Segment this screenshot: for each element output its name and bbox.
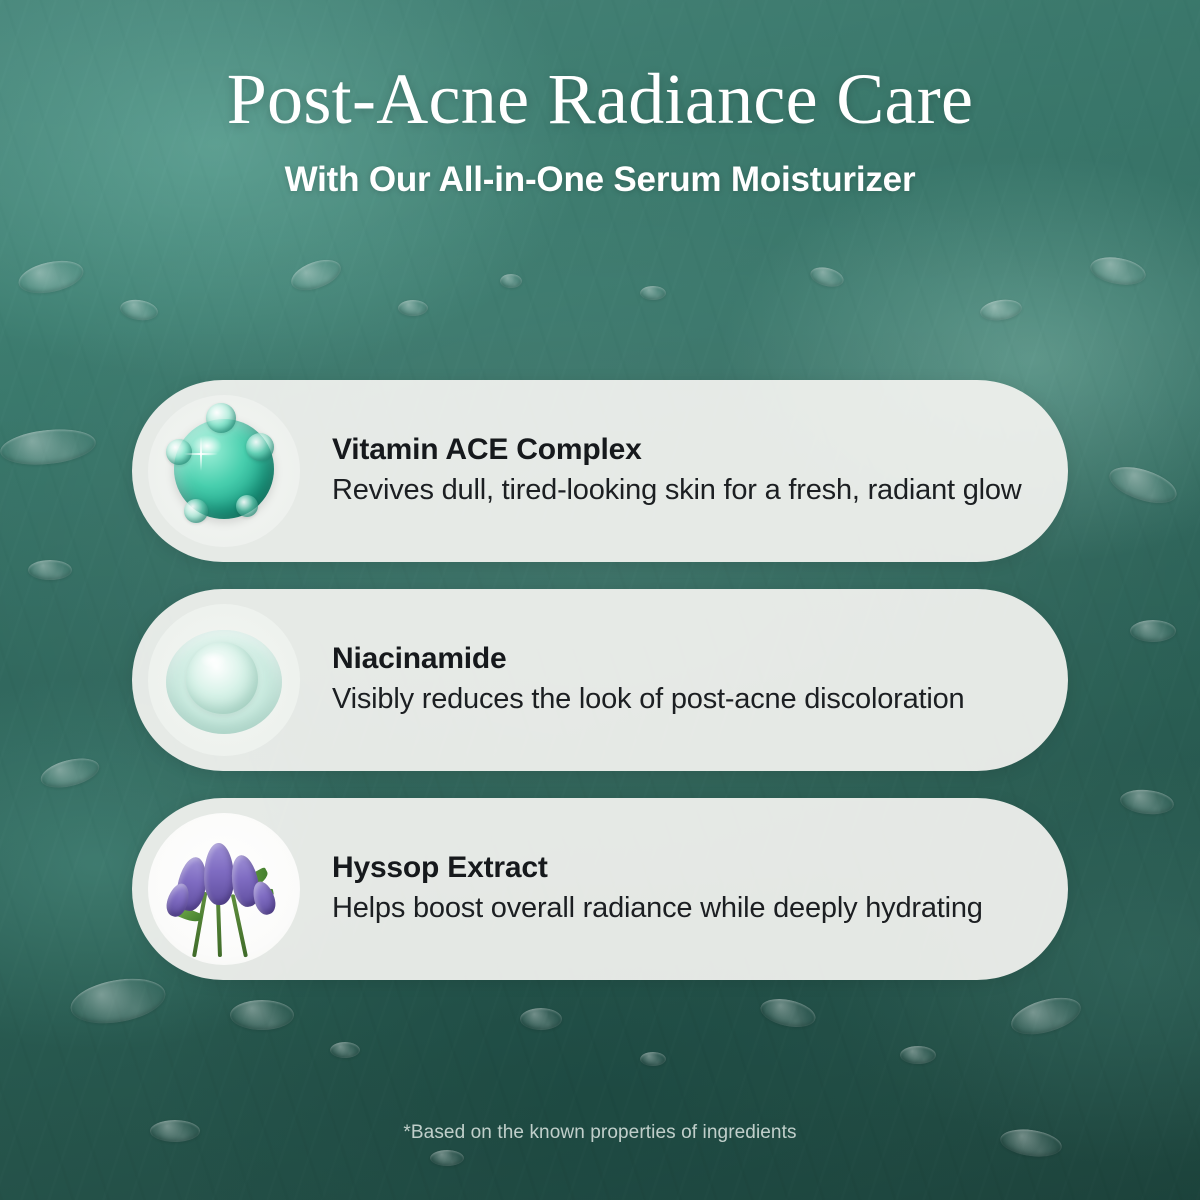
feature-text: Niacinamide Visibly reduces the look of … — [300, 642, 998, 719]
water-droplet — [640, 1052, 666, 1066]
water-droplet — [1130, 620, 1176, 642]
gel-capsule-icon — [148, 604, 300, 756]
water-droplet — [640, 286, 666, 300]
page-title: Post-Acne Radiance Care — [0, 62, 1200, 138]
feature-text: Hyssop Extract Helps boost overall radia… — [300, 851, 1017, 928]
water-droplet — [900, 1046, 936, 1064]
feature-card-hyssop: Hyssop Extract Helps boost overall radia… — [132, 798, 1068, 980]
feature-card-vitamin-ace: Vitamin ACE Complex Revives dull, tired-… — [132, 380, 1068, 562]
water-droplet — [28, 560, 72, 580]
water-droplet — [430, 1150, 464, 1166]
water-droplet — [520, 1008, 562, 1030]
water-droplet — [398, 300, 428, 316]
feature-title: Vitamin ACE Complex — [332, 433, 1022, 467]
feature-card-niacinamide: Niacinamide Visibly reduces the look of … — [132, 589, 1068, 771]
feature-description: Revives dull, tired-looking skin for a f… — [332, 471, 1022, 510]
serum-droplet-icon — [148, 395, 300, 547]
feature-title: Hyssop Extract — [332, 851, 983, 885]
feature-text: Vitamin ACE Complex Revives dull, tired-… — [300, 433, 1056, 510]
footnote: *Based on the known properties of ingred… — [0, 1122, 1200, 1144]
water-droplet — [330, 1042, 360, 1058]
feature-description: Helps boost overall radiance while deepl… — [332, 889, 983, 928]
hyssop-flower-icon — [148, 813, 300, 965]
promo-graphic: Post-Acne Radiance Care With Our All-in-… — [0, 0, 1200, 1200]
feature-description: Visibly reduces the look of post-acne di… — [332, 680, 964, 719]
feature-list: Vitamin ACE Complex Revives dull, tired-… — [132, 380, 1068, 1007]
water-droplet — [500, 274, 522, 288]
header: Post-Acne Radiance Care With Our All-in-… — [0, 62, 1200, 200]
feature-title: Niacinamide — [332, 642, 964, 676]
page-subtitle: With Our All-in-One Serum Moisturizer — [0, 160, 1200, 200]
